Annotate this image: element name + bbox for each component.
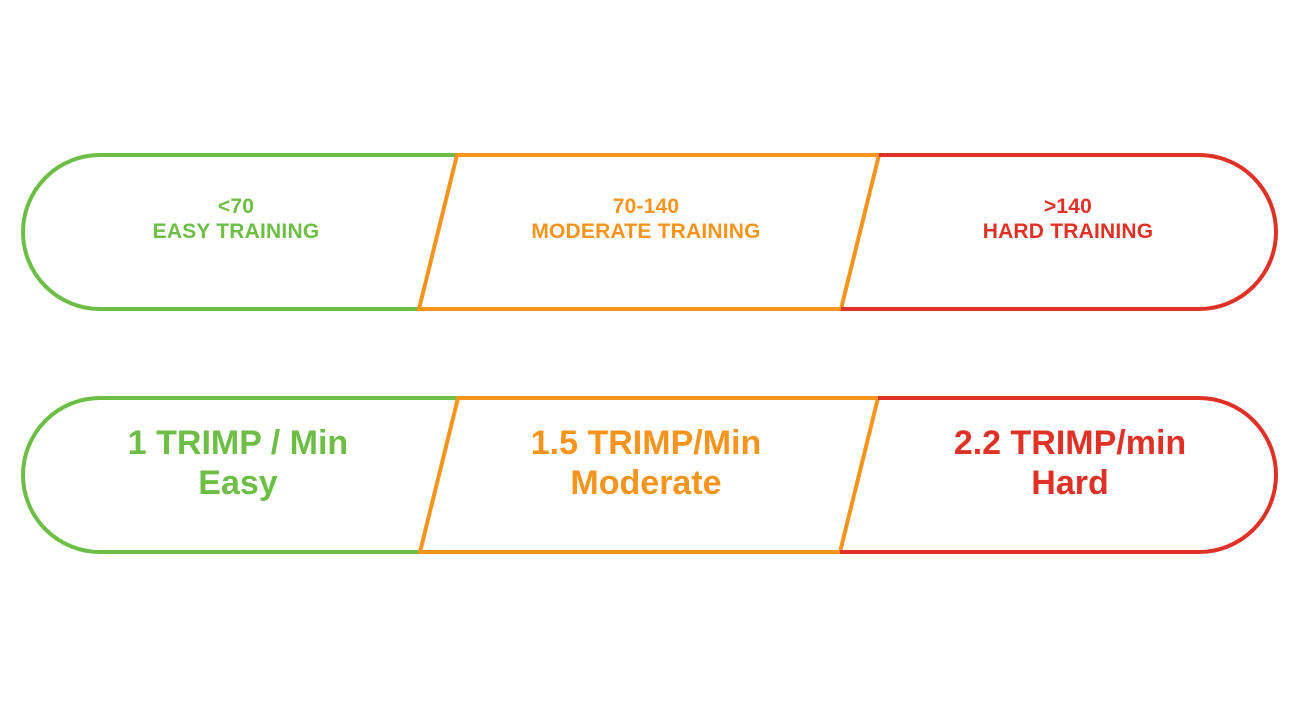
zone-easy-range: <70 — [40, 195, 432, 220]
rate-hard-label: 2.2 TRIMP/min Hard — [872, 423, 1268, 503]
zone-hard-range: >140 — [872, 195, 1264, 220]
rate-hard-value: 2.2 TRIMP/min — [872, 423, 1268, 463]
rate-moderate-value: 1.5 TRIMP/Min — [444, 423, 848, 463]
zone-moderate-name: MODERATE TRAINING — [444, 220, 848, 245]
zone-moderate-label: 70-140 MODERATE TRAINING — [444, 195, 848, 245]
trimp-rates-band: 1 TRIMP / Min Easy 1.5 TRIMP/Min Moderat… — [0, 390, 1299, 565]
zone-easy-label: <70 EASY TRAINING — [40, 195, 432, 245]
rate-moderate-label: 1.5 TRIMP/Min Moderate — [444, 423, 848, 503]
rate-easy-name: Easy — [40, 463, 436, 503]
zone-hard-label: >140 HARD TRAINING — [872, 195, 1264, 245]
zone-hard-name: HARD TRAINING — [872, 220, 1264, 245]
zone-chart-canvas: <70 EASY TRAINING 70-140 MODERATE TRAINI… — [0, 0, 1299, 709]
rate-moderate-name: Moderate — [444, 463, 848, 503]
zone-moderate-range: 70-140 — [444, 195, 848, 220]
zone-easy-name: EASY TRAINING — [40, 220, 432, 245]
rate-hard-name: Hard — [872, 463, 1268, 503]
training-zones-band: <70 EASY TRAINING 70-140 MODERATE TRAINI… — [0, 145, 1299, 320]
rate-easy-label: 1 TRIMP / Min Easy — [40, 423, 436, 503]
rate-easy-value: 1 TRIMP / Min — [40, 423, 436, 463]
